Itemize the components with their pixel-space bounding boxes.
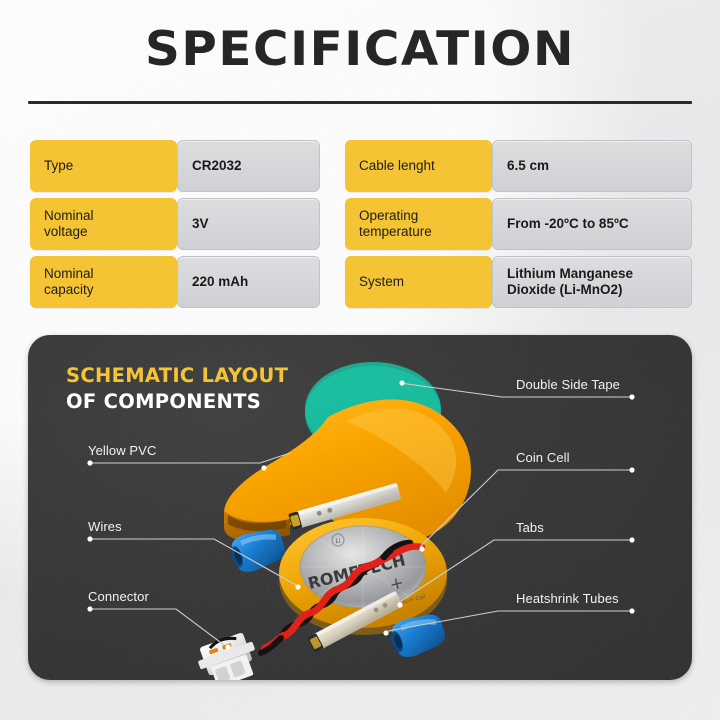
spec-key-system: System <box>345 256 492 308</box>
spec-key-type: Type <box>30 140 177 192</box>
spec-value-cable-length: 6.5 cm <box>492 140 692 192</box>
svg-text:Li: Li <box>335 538 340 545</box>
anchor-heatshrink-tubes <box>383 630 388 635</box>
anchor-connector <box>225 644 230 649</box>
column-gap <box>320 256 345 308</box>
callout-label-double-side-tape: Double Side Tape <box>516 377 620 392</box>
schematic-panel: SCHEMATIC LAYOUT OF COMPONENTS <box>28 335 692 680</box>
header-divider <box>28 101 692 104</box>
anchor-yellow-pvc <box>261 465 266 470</box>
anchor-double-side-tape <box>399 380 404 385</box>
spec-key-nominal-capacity: Nominalcapacity <box>30 256 177 308</box>
callout-label-heatshrink-tubes: Heatshrink Tubes <box>516 591 619 606</box>
callout-label-yellow-pvc: Yellow PVC <box>88 443 156 458</box>
column-gap <box>320 198 345 250</box>
spec-key-operating-temperature: Operatingtemperature <box>345 198 492 250</box>
connector-part <box>194 630 264 680</box>
page-header: SPECIFICATION <box>0 26 720 73</box>
column-gap <box>320 140 345 192</box>
callout-label-coin-cell: Coin Cell <box>516 450 570 465</box>
callout-label-tabs: Tabs <box>516 520 544 535</box>
spec-value-nominal-capacity: 220 mAh <box>177 256 320 308</box>
page-background: SPECIFICATION Type CR2032 Cable lenght 6… <box>0 0 720 720</box>
anchor-coin-cell <box>419 546 424 551</box>
callout-label-wires: Wires <box>88 519 122 534</box>
spec-value-operating-temperature: From -20ºC to 85ºC <box>492 198 692 250</box>
anchor-tabs <box>397 602 402 607</box>
spec-value-type: CR2032 <box>177 140 320 192</box>
callout-label-connector: Connector <box>88 589 149 604</box>
spec-key-cable-length: Cable lenght <box>345 140 492 192</box>
spec-value-nominal-voltage: 3V <box>177 198 320 250</box>
specification-table: Type CR2032 Cable lenght 6.5 cm Nominalv… <box>30 140 692 308</box>
spec-value-system: Lithium ManganeseDioxide (Li-MnO2) <box>492 256 692 308</box>
page-title: SPECIFICATION <box>0 26 720 73</box>
spec-key-nominal-voltage: Nominalvoltage <box>30 198 177 250</box>
anchor-wires <box>295 584 300 589</box>
